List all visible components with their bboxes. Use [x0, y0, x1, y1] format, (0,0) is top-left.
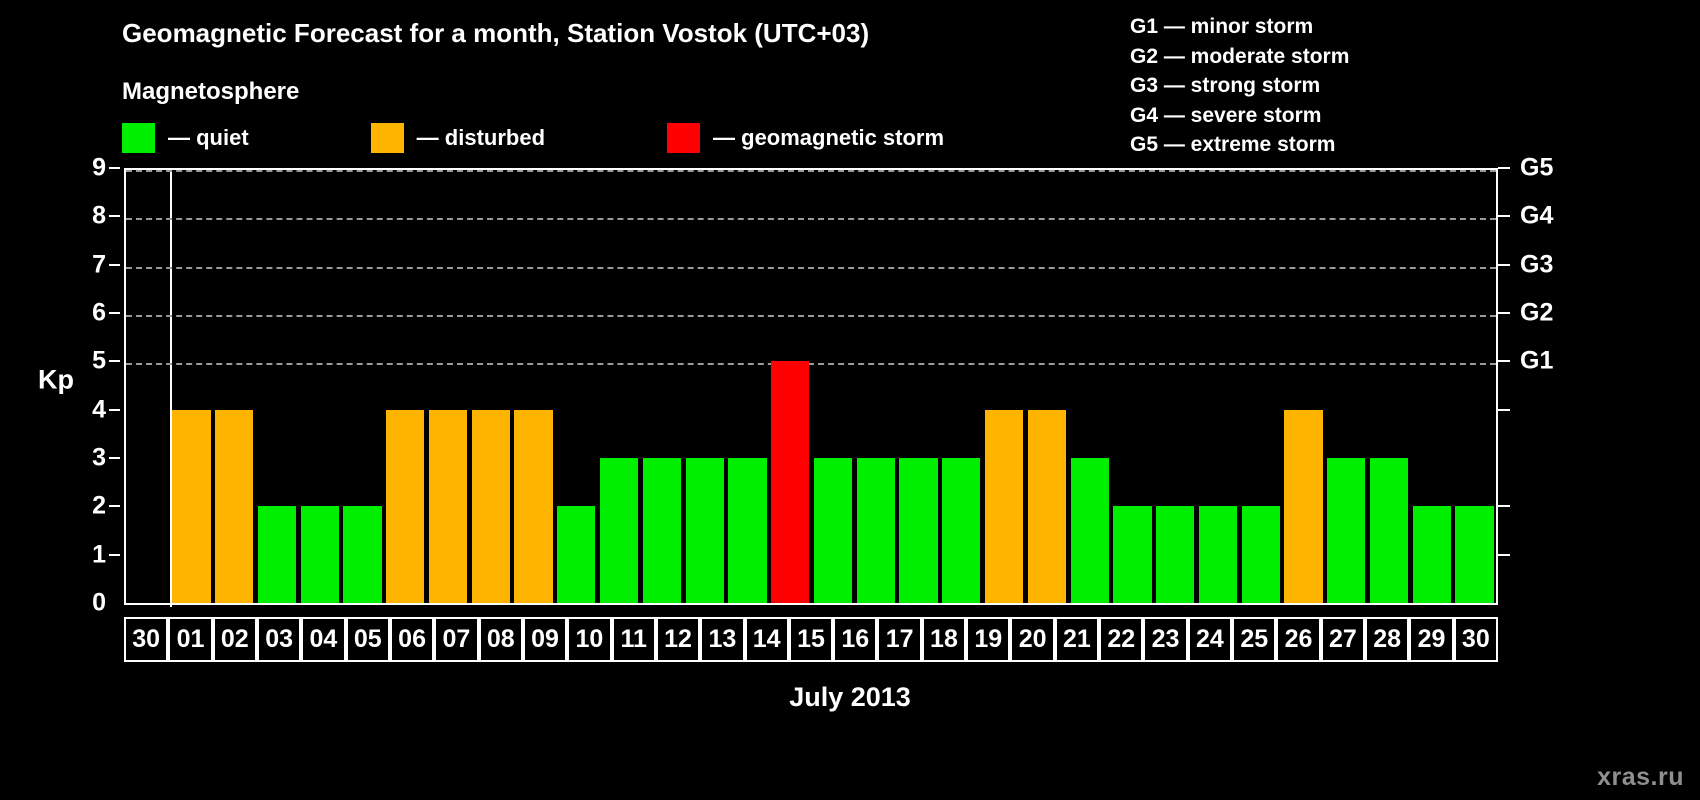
g-tick-mark	[1498, 264, 1510, 266]
kp-bar[interactable]	[1113, 506, 1151, 603]
bar-slot	[1197, 168, 1240, 603]
legend-entry: — quiet	[122, 123, 249, 153]
x-axis-date-label[interactable]: 11	[612, 617, 656, 662]
kp-bar[interactable]	[686, 458, 724, 603]
kp-bar[interactable]	[514, 410, 552, 603]
x-axis-date-boxes: 3001020304050607080910111213141516171819…	[124, 617, 1498, 662]
x-axis-date-label[interactable]: 10	[567, 617, 611, 662]
gscale-legend-line: G1 — minor storm	[1130, 12, 1349, 42]
x-axis-date-label[interactable]: 25	[1232, 617, 1276, 662]
kp-bar[interactable]	[1199, 506, 1237, 603]
y-tick-label: 3	[92, 444, 106, 473]
legend-entry: — disturbed	[371, 123, 545, 153]
y-tick-mark	[109, 312, 120, 314]
magnetosphere-legend: — quiet— disturbed— geomagnetic storm	[122, 122, 944, 154]
kp-bar[interactable]	[258, 506, 296, 603]
x-axis-date-label[interactable]: 23	[1143, 617, 1187, 662]
x-axis-date-label[interactable]: 20	[1010, 617, 1054, 662]
gscale-legend: G1 — minor stormG2 — moderate stormG3 — …	[1130, 12, 1349, 160]
x-axis-date-label[interactable]: 26	[1276, 617, 1320, 662]
kp-bar[interactable]	[472, 410, 510, 603]
bar-slot	[1282, 168, 1325, 603]
x-axis-date-label[interactable]: 02	[213, 617, 257, 662]
kp-bar[interactable]	[899, 458, 937, 603]
watermark: xras.ru	[1597, 763, 1684, 792]
g-tick-label: G2	[1520, 299, 1553, 328]
g-minor-tick-mark	[1498, 505, 1510, 507]
y-tick-mark	[109, 215, 120, 217]
bar-slot	[940, 168, 983, 603]
y-axis: 9876543210	[72, 168, 120, 605]
y-tick-label: 2	[92, 492, 106, 521]
kp-bar[interactable]	[771, 361, 809, 603]
bar-slot	[555, 168, 598, 603]
y-tick-label: 1	[92, 540, 106, 569]
y-tick-label: 0	[92, 589, 106, 618]
y-tick-mark	[109, 264, 120, 266]
page-title: Geomagnetic Forecast for a month, Statio…	[122, 18, 869, 49]
g-minor-tick-mark	[1498, 554, 1510, 556]
y-tick-mark	[109, 360, 120, 362]
kp-bar[interactable]	[386, 410, 424, 603]
kp-bar[interactable]	[728, 458, 766, 603]
legend-label: — geomagnetic storm	[713, 125, 944, 151]
x-axis-date-label[interactable]: 16	[833, 617, 877, 662]
x-axis-date-label[interactable]: 12	[656, 617, 700, 662]
bar-slot	[1325, 168, 1368, 603]
y-tick-label: 8	[92, 202, 106, 231]
bar-slot	[1368, 168, 1411, 603]
g-tick-label: G1	[1520, 347, 1553, 376]
kp-bar[interactable]	[215, 410, 253, 603]
kp-bar[interactable]	[1413, 506, 1451, 603]
kp-bar[interactable]	[1284, 410, 1322, 603]
x-axis-date-label[interactable]: 09	[523, 617, 567, 662]
bar-slot	[1025, 168, 1068, 603]
bar-slot	[213, 168, 256, 603]
g-tick-label: G3	[1520, 250, 1553, 279]
y-tick-mark	[109, 409, 120, 411]
bar-slot	[726, 168, 769, 603]
y-tick-mark	[109, 457, 120, 459]
kp-bar[interactable]	[172, 410, 210, 603]
x-axis-date-label[interactable]: 08	[479, 617, 523, 662]
kp-bar[interactable]	[1242, 506, 1280, 603]
y-tick-label: 9	[92, 154, 106, 183]
y-tick-label: 4	[92, 395, 106, 424]
g-tick-label: G4	[1520, 202, 1553, 231]
x-axis-date-label[interactable]: 19	[966, 617, 1010, 662]
bar-slot	[854, 168, 897, 603]
g-scale-axis: G5G4G3G2G1	[1498, 168, 1618, 605]
kp-bar[interactable]	[1156, 506, 1194, 603]
x-axis-title: July 2013	[0, 682, 1700, 713]
gscale-legend-line: G5 — extreme storm	[1130, 130, 1349, 160]
quiet-swatch	[122, 123, 155, 153]
y-tick-label: 7	[92, 250, 106, 279]
x-axis-date-label[interactable]: 07	[434, 617, 478, 662]
kp-bar[interactable]	[1370, 458, 1408, 603]
bar-slot	[469, 168, 512, 603]
x-axis-date-label[interactable]: 22	[1099, 617, 1143, 662]
x-axis-date-label[interactable]: 28	[1365, 617, 1409, 662]
x-axis-date-label[interactable]: 29	[1409, 617, 1453, 662]
bar-slot	[1410, 168, 1453, 603]
y-tick-label: 6	[92, 299, 106, 328]
kp-bar[interactable]	[942, 458, 980, 603]
gscale-legend-line: G3 — strong storm	[1130, 71, 1349, 101]
g-tick-mark	[1498, 215, 1510, 217]
kp-bar[interactable]	[814, 458, 852, 603]
bar-slot	[1111, 168, 1154, 603]
kp-bar[interactable]	[985, 410, 1023, 603]
g-tick-mark	[1498, 167, 1510, 169]
kp-bar[interactable]	[1071, 458, 1109, 603]
kp-bar[interactable]	[857, 458, 895, 603]
x-axis-date-label[interactable]: 13	[700, 617, 744, 662]
bar-slot	[1154, 168, 1197, 603]
x-axis-date-label[interactable]: 30	[1454, 617, 1498, 662]
kp-bar[interactable]	[343, 506, 381, 603]
y-tick-mark	[109, 554, 120, 556]
x-axis-date-label[interactable]: 21	[1055, 617, 1099, 662]
y-tick-mark	[109, 167, 120, 169]
kp-bar[interactable]	[643, 458, 681, 603]
gscale-legend-line: G2 — moderate storm	[1130, 42, 1349, 72]
bar-slot	[598, 168, 641, 603]
x-axis-date-label[interactable]: 24	[1188, 617, 1232, 662]
bar-slot	[983, 168, 1026, 603]
x-axis-date-label[interactable]: 06	[390, 617, 434, 662]
g-tick-mark	[1498, 312, 1510, 314]
x-axis-date-label[interactable]: 17	[877, 617, 921, 662]
bar-slot	[341, 168, 384, 603]
x-axis-date-label[interactable]: 03	[257, 617, 301, 662]
bars-layer	[170, 168, 1496, 603]
gscale-legend-line: G4 — severe storm	[1130, 101, 1349, 131]
kp-bar[interactable]	[557, 506, 595, 603]
bar-slot	[769, 168, 812, 603]
bar-slot	[1068, 168, 1111, 603]
magnetosphere-heading: Magnetosphere	[122, 78, 299, 106]
storm-swatch	[667, 123, 700, 153]
disturbed-swatch	[371, 123, 404, 153]
x-axis-date-label[interactable]: 04	[301, 617, 345, 662]
legend-entry: — geomagnetic storm	[667, 123, 944, 153]
bar-slot	[256, 168, 299, 603]
legend-label: — disturbed	[417, 125, 545, 151]
bar-slot	[683, 168, 726, 603]
bar-slot	[512, 168, 555, 603]
x-axis-date-label[interactable]: 14	[745, 617, 789, 662]
x-axis-date-label[interactable]: 18	[922, 617, 966, 662]
kp-bar[interactable]	[301, 506, 339, 603]
bar-slot	[1453, 168, 1496, 603]
x-axis-date-label[interactable]: 27	[1321, 617, 1365, 662]
bar-slot	[170, 168, 213, 603]
bar-slot	[812, 168, 855, 603]
g-minor-tick-mark	[1498, 409, 1510, 411]
kp-bar[interactable]	[1455, 506, 1493, 603]
bar-slot	[298, 168, 341, 603]
bar-slot	[384, 168, 427, 603]
x-axis-date-label[interactable]: 15	[789, 617, 833, 662]
bar-slot	[897, 168, 940, 603]
bar-slot	[427, 168, 470, 603]
g-tick-label: G5	[1520, 154, 1553, 183]
x-axis-date-label[interactable]: 05	[346, 617, 390, 662]
kp-bar[interactable]	[1327, 458, 1365, 603]
kp-bar[interactable]	[600, 458, 638, 603]
g-tick-mark	[1498, 360, 1510, 362]
kp-bar[interactable]	[1028, 410, 1066, 603]
legend-label: — quiet	[168, 125, 249, 151]
y-axis-title: Kp	[38, 365, 74, 396]
y-tick-mark	[109, 505, 120, 507]
bar-slot	[641, 168, 684, 603]
kp-bar[interactable]	[429, 410, 467, 603]
x-axis-date-label[interactable]: 01	[168, 617, 212, 662]
y-tick-label: 5	[92, 347, 106, 376]
bar-slot	[1239, 168, 1282, 603]
x-axis-date-label[interactable]: 30	[124, 617, 168, 662]
